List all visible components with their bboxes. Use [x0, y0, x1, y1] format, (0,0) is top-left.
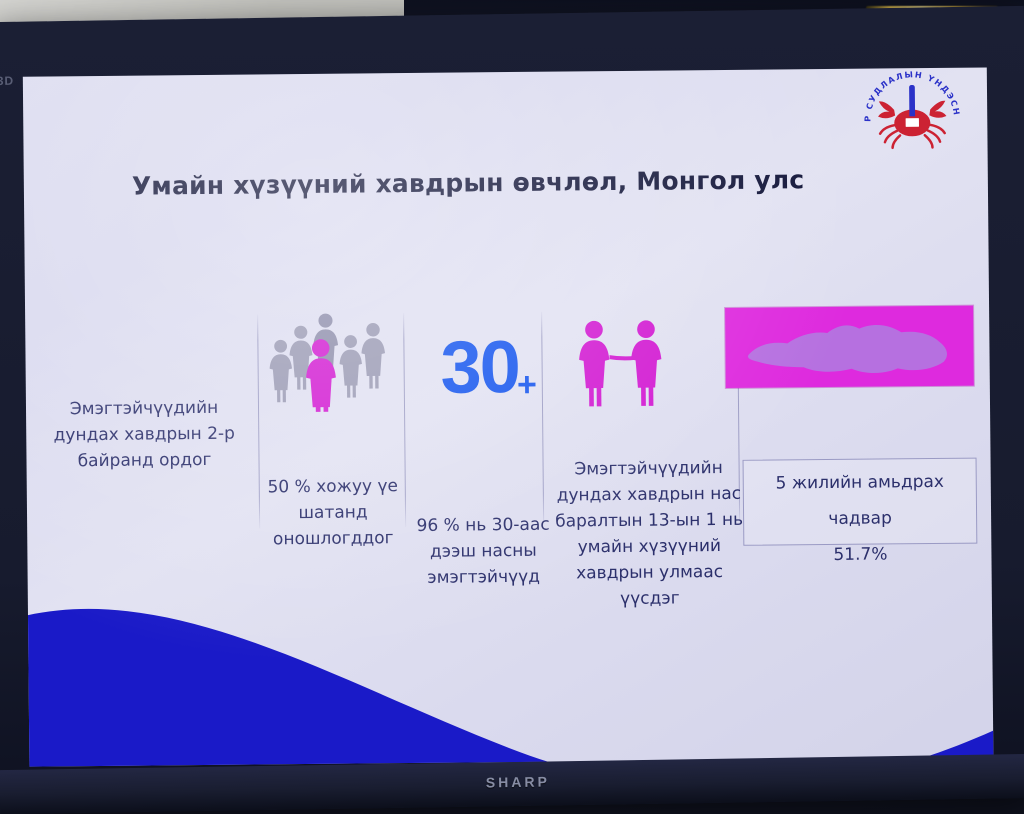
crowd-of-women-icon	[263, 311, 396, 412]
survival-rate-box: 5 жилийн амьдрах чадвар 51.7%	[743, 458, 978, 546]
big-number-value: 30	[440, 325, 519, 409]
crab-glyph	[878, 85, 947, 148]
survival-line-2: чадвар	[744, 495, 976, 533]
survival-line-3: 51.7%	[744, 531, 976, 569]
two-women-icon	[565, 310, 692, 411]
big-number-plus: +	[517, 366, 535, 404]
column-2-caption: 50 % хожуу үе шатанд оношлогддог	[265, 473, 402, 552]
column-divider-1	[257, 314, 260, 528]
mongolia-map	[725, 306, 974, 388]
crab-cancer-center-logo: ХАВДАР СУДЛАЛЫН ҮНДЭСНИЙ ТӨВ	[855, 67, 970, 176]
bezel-3d-label: 3D	[0, 74, 14, 88]
sharp-brand-label: SHARP	[486, 773, 550, 790]
column-1-caption: Эмэгтэйчүүдийн дундах хавдрын 2-р байран…	[44, 395, 245, 475]
big-number-30: 30+	[407, 329, 568, 423]
survival-line-1: 5 жилийн амьдрах	[744, 459, 976, 497]
column-4-caption: Эмэгтэйчүүдийн дундах хавдрын нас баралт…	[550, 455, 747, 613]
infographic-columns: Эмэгтэйчүүдийн дундах хавдрын 2-р байран…	[25, 307, 992, 676]
column-3-caption: 96 % нь 30-аас дээш насны эмэгтэйчүүд	[395, 511, 572, 591]
presentation-slide: ХАВДАР СУДЛАЛЫН ҮНДЭСНИЙ ТӨВ Умайн	[23, 67, 994, 766]
sharp-display-monitor: 3D ХАВДАР СУДЛАЛЫН ҮНДЭСНИЙ ТӨВ	[0, 6, 1024, 814]
page-title: Умайн хүзүүний хавдрын өвчлөл, Монгол ул…	[132, 165, 805, 200]
column-divider-2	[403, 313, 406, 527]
